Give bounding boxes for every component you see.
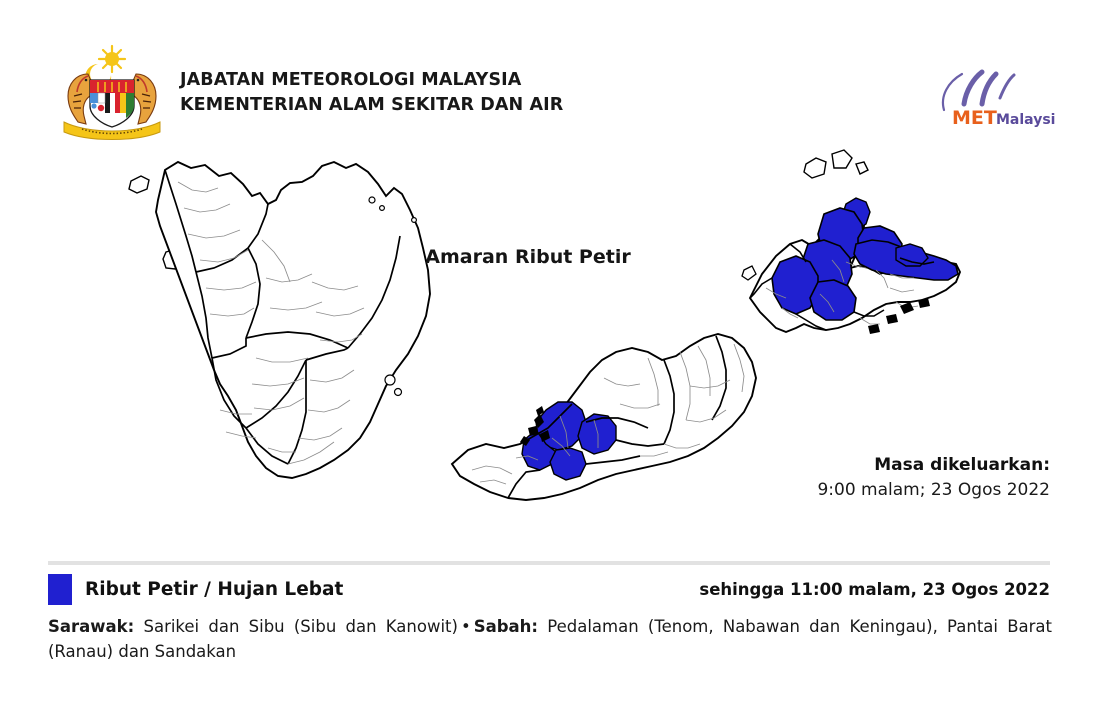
legend-color-swatch [48,574,72,605]
shield-icon [90,80,134,127]
header-title-group: JABATAN METEOROLOGI MALAYSIA KEMENTERIAN… [180,68,563,118]
map-region-sabah [742,150,960,334]
legend-label: Ribut Petir / Hujan Lebat [85,579,343,600]
state-label-sarawak: Sarawak: [48,617,134,636]
warning-map: Amaran Ribut Petir Masa dikeluarkan: 9:0… [0,148,1100,548]
met-logo-text-malaysia: Malaysia [996,112,1056,128]
ministry-name: KEMENTERIAN ALAM SEKITAR DAN AIR [180,93,563,118]
issued-label: Masa dikeluarkan: [817,453,1050,478]
agency-name: JABATAN METEOROLOGI MALAYSIA [180,68,563,93]
legend-valid-until: sehingga 11:00 malam, 23 Ogos 2022 [699,580,1050,599]
issued-time-block: Masa dikeluarkan: 9:00 malam; 23 Ogos 20… [817,453,1050,502]
description-separator: • [458,617,474,636]
map-region-sarawak [452,334,756,500]
met-malaysia-logo: MET Malaysia [930,58,1056,130]
legend-entry: Ribut Petir / Hujan Lebat [48,574,343,605]
map-region-peninsular [129,162,430,478]
state-areas-sarawak: Sarikei dan Sibu (Sibu dan Kanowit) [143,617,457,636]
legend-row: Ribut Petir / Hujan Lebat sehingga 11:00… [48,574,1050,606]
met-swoosh-icon [943,72,1014,110]
legend-divider [48,561,1050,565]
malaysia-coat-of-arms-icon [48,44,176,140]
issued-value: 9:00 malam; 23 Ogos 2022 [817,478,1050,503]
page-header: JABATAN METEOROLOGI MALAYSIA KEMENTERIAN… [0,0,1100,150]
state-label-sabah: Sabah: [474,617,538,636]
met-logo-text-met: MET [952,107,997,129]
affected-areas-description: Sarawak: Sarikei dan Sibu (Sibu dan Kano… [48,614,1052,664]
